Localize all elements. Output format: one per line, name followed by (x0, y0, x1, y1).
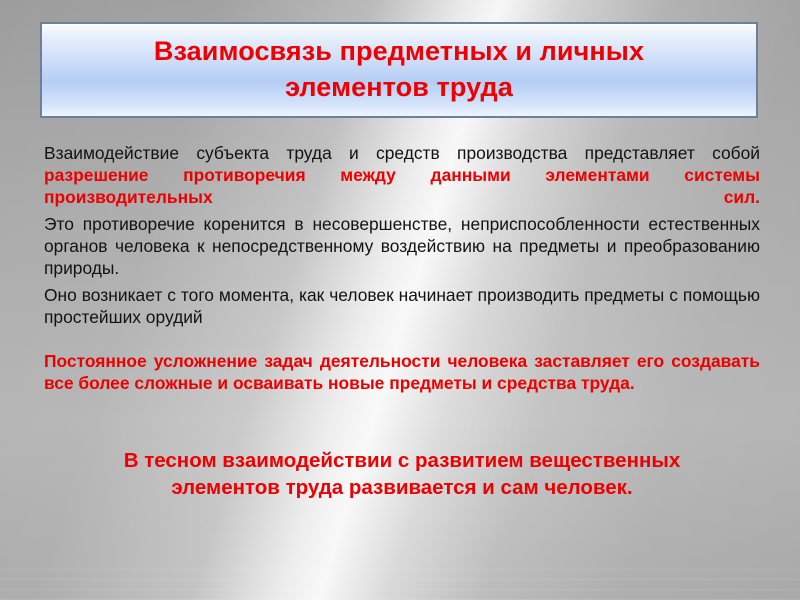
slide-conclusion: В тесном взаимодействии с развитием веще… (44, 447, 760, 502)
paragraph-1-lead: Взаимодействие субъекта труда и средств … (44, 143, 760, 163)
slide-body: Взаимодействие субъекта труда и средств … (44, 142, 760, 394)
paragraph-1-highlight: разрешение противоречия между данными эл… (44, 165, 760, 207)
presentation-slide: Взаимосвязь предметных и личных элементо… (0, 0, 800, 600)
paragraph-3: Оно возникает с того момента, как челове… (44, 284, 760, 328)
slide-title-box: Взаимосвязь предметных и личных элементо… (40, 22, 758, 118)
scanline-overlay (0, 560, 800, 600)
slide-title: Взаимосвязь предметных и личных элементо… (142, 34, 656, 105)
paragraph-4: Постоянное усложнение задач деятельности… (44, 350, 760, 394)
paragraph-gap-3 (44, 328, 760, 350)
paragraph-2: Это противоречие коренится в несовершенс… (44, 213, 760, 279)
paragraph-1: Взаимодействие субъекта труда и средств … (44, 142, 760, 208)
